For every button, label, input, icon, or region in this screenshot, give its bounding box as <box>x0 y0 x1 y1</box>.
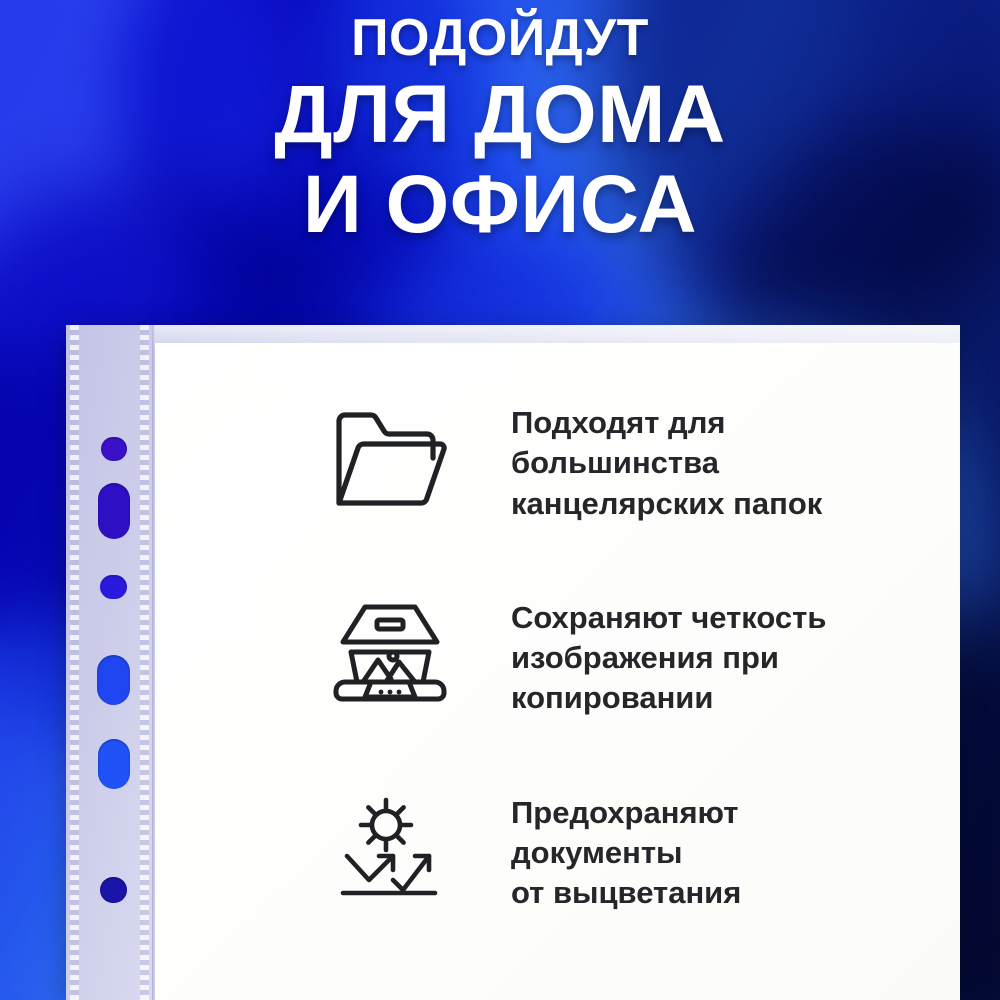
list-item: Предохраняют документы от выцветания <box>331 789 900 914</box>
hole-2 <box>98 483 130 539</box>
perforation-texture <box>140 325 149 1000</box>
hole-1 <box>101 437 127 461</box>
hole-4 <box>97 655 130 705</box>
list-item-label: Подходят для большинства канцелярских па… <box>449 401 900 524</box>
hole-5 <box>98 739 130 789</box>
flatbed-scanner-icon <box>331 594 449 704</box>
punched-pocket-sleeve: Подходят для большинства канцелярских па… <box>66 325 960 1000</box>
feature-list: Подходят для большинства канцелярских па… <box>331 401 900 914</box>
list-item-label: Предохраняют документы от выцветания <box>449 789 900 914</box>
hole-3 <box>100 575 127 599</box>
document-page: Подходят для большинства канцелярских па… <box>155 343 960 1000</box>
list-item: Сохраняют четкость изображения при копир… <box>331 594 900 719</box>
list-item: Подходят для большинства канцелярских па… <box>331 401 900 524</box>
open-folder-icon <box>331 401 449 511</box>
list-item-label: Сохраняют четкость изображения при копир… <box>449 594 900 719</box>
promo-banner: ПОДОЙДУТ ДЛЯ ДОМА И ОФИСА <box>0 0 1000 1000</box>
sun-fade-protection-icon <box>331 789 449 899</box>
hole-6 <box>100 877 127 903</box>
perforation-texture <box>70 325 79 1000</box>
